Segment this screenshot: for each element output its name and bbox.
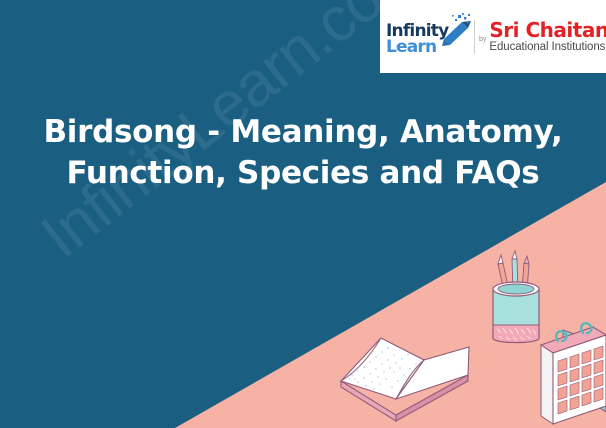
partner-name: Sri Chaitanya xyxy=(489,20,606,40)
infinity-learn-logo: Infinity Learn xyxy=(386,9,472,65)
arrow-pixel-burst-icon xyxy=(438,13,474,53)
pencil-cup-icon xyxy=(493,251,539,343)
brand-logo-box[interactable]: Infinity Learn by Sri Ch xyxy=(380,0,606,73)
by-label: by xyxy=(479,30,486,43)
partner-subtitle: Educational Institutions xyxy=(489,42,606,54)
open-book-icon xyxy=(341,338,469,421)
desk-calendar-icon xyxy=(541,323,606,424)
page-title: Birdsong - Meaning, Anatomy, Function, S… xyxy=(30,112,576,194)
article-header-banner: InfinityLearn.com xyxy=(0,0,606,428)
logo-divider xyxy=(474,20,475,54)
sri-chaitanya-logo: Sri Chaitanya Educational Institutions xyxy=(489,20,606,54)
